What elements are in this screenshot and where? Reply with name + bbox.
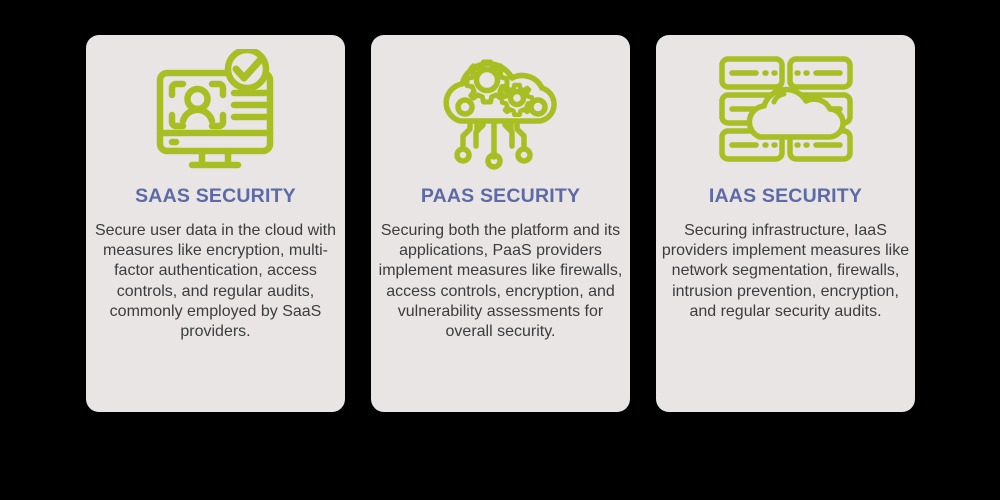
card-paas-security[interactable]: PAAS SECURITY Securing both the platform… bbox=[371, 35, 630, 412]
card-title: PAAS SECURITY bbox=[415, 185, 586, 207]
card-saas-security[interactable]: SAAS SECURITY Secure user data in the cl… bbox=[86, 35, 345, 412]
paas-cloud-gears-circuit-icon bbox=[371, 35, 630, 185]
cards-board: SAAS SECURITY Secure user data in the cl… bbox=[0, 0, 1000, 500]
card-title: IAAS SECURITY bbox=[703, 185, 868, 207]
card-description: Securing infrastructure, IaaS providers … bbox=[656, 207, 915, 322]
iaas-server-racks-cloud-icon bbox=[656, 35, 915, 185]
card-description: Securing both the platform and its appli… bbox=[371, 207, 630, 342]
card-description: Secure user data in the cloud with measu… bbox=[86, 207, 345, 342]
card-iaas-security[interactable]: IAAS SECURITY Securing infrastructure, I… bbox=[656, 35, 915, 412]
card-title: SAAS SECURITY bbox=[129, 185, 302, 207]
saas-monitor-id-check-icon bbox=[86, 35, 345, 185]
